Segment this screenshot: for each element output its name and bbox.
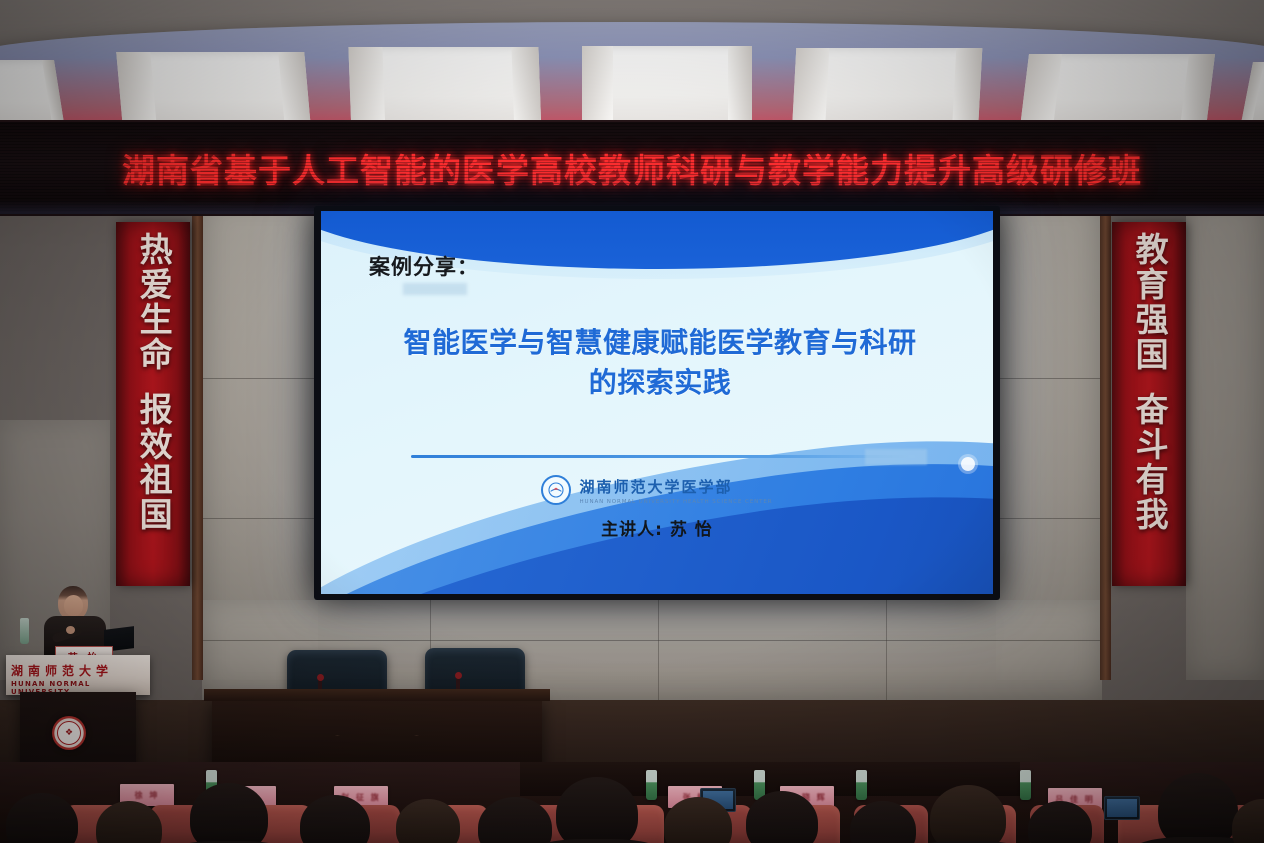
banner-right-line1: 教育强国 <box>1132 232 1166 372</box>
slide-speaker-line: 主讲人: 苏 怡 <box>321 515 993 540</box>
banner-left-line1: 热爱生命 <box>136 232 170 372</box>
logo-chinese-name: 湖南师范大学医学部 <box>579 476 732 497</box>
slide-highlight-smudge <box>403 283 467 295</box>
audience-area: 徐 坤 周 赵 征 旗 张 敏 罗 晓 辉 吕 佳 明 <box>0 762 1264 843</box>
wall-trim-left <box>192 198 203 680</box>
wall-trim-right <box>1100 198 1111 680</box>
led-banner-text: 湖南省基于人工智能的医学高校教师科研与教学能力提升高级研修班 <box>122 144 1142 192</box>
audience-head <box>556 777 638 843</box>
podium-water-bottle <box>20 618 29 644</box>
podium-org-chinese: 湖南师范大学 <box>11 662 113 679</box>
water-bottle <box>856 770 867 800</box>
slide-divider-smudge <box>865 449 927 465</box>
podium-emblem-inner: ❖ <box>57 721 81 745</box>
microphone-head-right <box>455 672 462 679</box>
slide-university-logo: 湖南师范大学医学部 HUNAN NORMAL UNIVERSITY HEALTH… <box>321 475 993 505</box>
presenter-face <box>64 595 83 616</box>
led-event-banner: 湖南省基于人工智能的医学高校教师科研与教学能力提升高级研修班 <box>0 120 1264 216</box>
lecture-hall-photo: 湖南省基于人工智能的医学高校教师科研与教学能力提升高级研修班 热爱生命 报效祖国… <box>0 0 1264 843</box>
banner-left-slogan: 热爱生命 报效祖国 <box>116 222 190 586</box>
projection-screen: 案例分享： 智能医学与智慧健康赋能医学教育与科研 的探索实践 湖南师范大学医学部… <box>321 211 993 594</box>
audience-head <box>6 793 78 843</box>
water-bottle <box>1020 770 1031 800</box>
stage-table-top <box>204 689 550 701</box>
audience-head <box>478 797 552 843</box>
slide-title-line1: 智能医学与智慧健康赋能医学教育与科研 <box>353 323 967 363</box>
logo-english-name: HUNAN NORMAL UNIVERSITY HEALTH SCIENCE C… <box>579 499 772 505</box>
stage-table-ornament <box>298 735 456 750</box>
university-crest-icon <box>541 475 571 505</box>
slide-title: 智能医学与智慧健康赋能医学教育与科研 的探索实践 <box>353 323 967 403</box>
banner-left-line2: 报效祖国 <box>136 392 170 532</box>
podium-emblem-glyph: ❖ <box>65 729 73 738</box>
water-bottle <box>646 770 657 800</box>
microphone-head-left <box>317 674 324 681</box>
slide-kicker-text: 案例分享： <box>369 251 479 281</box>
slide-divider-line <box>411 455 915 458</box>
banner-right-slogan: 教育强国 奋斗有我 <box>1112 222 1186 586</box>
audience-head <box>1158 773 1238 843</box>
banner-right-line2: 奋斗有我 <box>1132 392 1166 532</box>
slide-title-line2: 的探索实践 <box>353 363 967 403</box>
podium-front-sign: 湖南师范大学 HUNAN NORMAL UNIVERSITY <box>6 655 150 695</box>
podium-emblem: ❖ <box>52 716 86 750</box>
slide-dot-decoration <box>961 457 975 471</box>
name-card-text: 徐 坤 <box>135 790 160 801</box>
presenter-hand <box>66 626 75 634</box>
audience-phone <box>1104 796 1140 820</box>
wall-panel-far-right <box>1186 198 1264 680</box>
